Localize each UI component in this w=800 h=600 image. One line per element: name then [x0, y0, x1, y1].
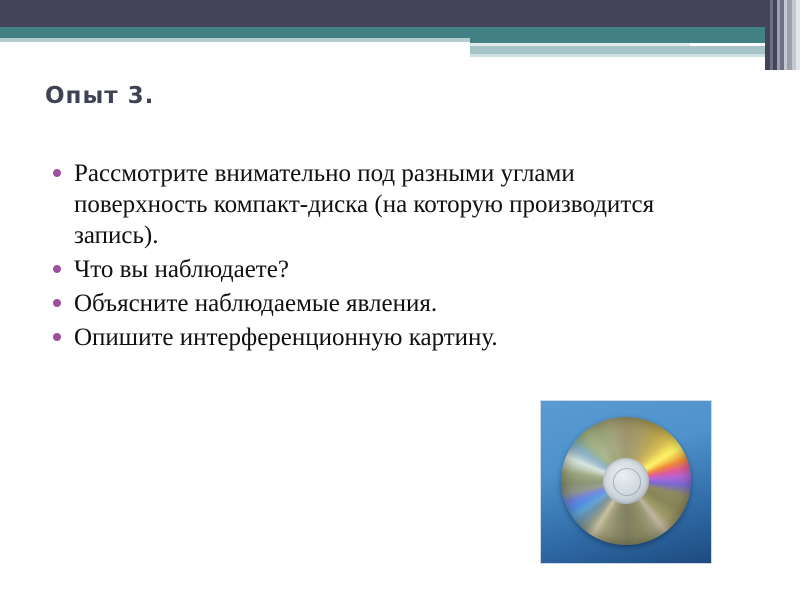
header-vertical-stripe-8 — [796, 0, 800, 70]
list-item: Опишите интерференционную картину. — [44, 322, 704, 353]
header-teal-band — [0, 27, 800, 38]
list-item-label: Опишите интерференционную картину. — [74, 322, 704, 353]
list-item: Объясните наблюдаемые явления. — [44, 288, 704, 319]
disc-hub-ring — [613, 468, 641, 496]
list-item: Рассмотрите внимательно под разными угла… — [44, 158, 704, 251]
compact-disc-photo — [541, 401, 711, 563]
bullet-dot-icon — [53, 169, 61, 177]
list-item-label: Что вы наблюдаете? — [74, 254, 704, 285]
bullet-list: Рассмотрите внимательно под разными угла… — [44, 158, 704, 356]
header-white-gap-left — [0, 42, 470, 70]
header-pale-band-mid — [470, 46, 690, 54]
slide: Опыт 3. Рассмотрите внимательно под разн… — [0, 0, 800, 600]
list-item-label: Рассмотрите внимательно под разными угла… — [74, 158, 704, 251]
header-vertical-stripes — [765, 0, 800, 70]
page-title: Опыт 3. — [45, 83, 154, 109]
header-white-gap-bottom — [470, 57, 800, 70]
list-item-label: Объясните наблюдаемые явления. — [74, 288, 704, 319]
list-item: Что вы наблюдаете? — [44, 254, 704, 285]
bullet-dot-icon — [53, 333, 61, 341]
header-dark-band — [0, 0, 800, 27]
slide-header-decoration — [0, 0, 800, 70]
bullet-dot-icon — [53, 299, 61, 307]
compact-disc-icon — [561, 417, 691, 545]
bullet-dot-icon — [53, 265, 61, 273]
